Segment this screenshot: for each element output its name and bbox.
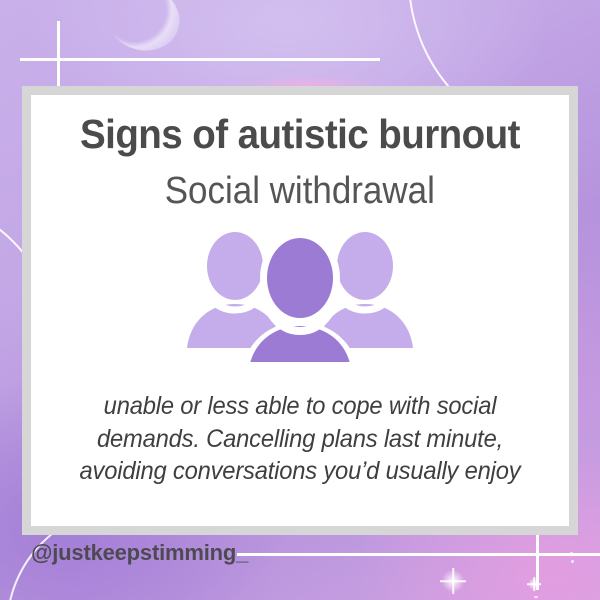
- page-title: Signs of autistic burnout: [80, 95, 520, 156]
- content-card-inner: Signs of autistic burnout Social withdra…: [31, 95, 569, 526]
- group-of-people-icon: [187, 226, 413, 362]
- body-description: unable or less able to cope with social …: [72, 362, 528, 488]
- decor-line-bottom-horizontal: [237, 553, 600, 556]
- instagram-post-canvas: Signs of autistic burnout Social withdra…: [0, 0, 600, 600]
- account-handle[interactable]: @justkeepstimming_: [31, 540, 248, 566]
- subtitle: Social withdrawal: [165, 156, 435, 212]
- content-card: Signs of autistic burnout Social withdra…: [22, 86, 578, 535]
- dust-speck: [571, 560, 574, 563]
- dust-speck: [534, 596, 538, 598]
- decor-line-top-horizontal: [20, 58, 380, 61]
- sparkle-icon: [440, 568, 466, 594]
- decor-line-top-vertical: [57, 21, 60, 89]
